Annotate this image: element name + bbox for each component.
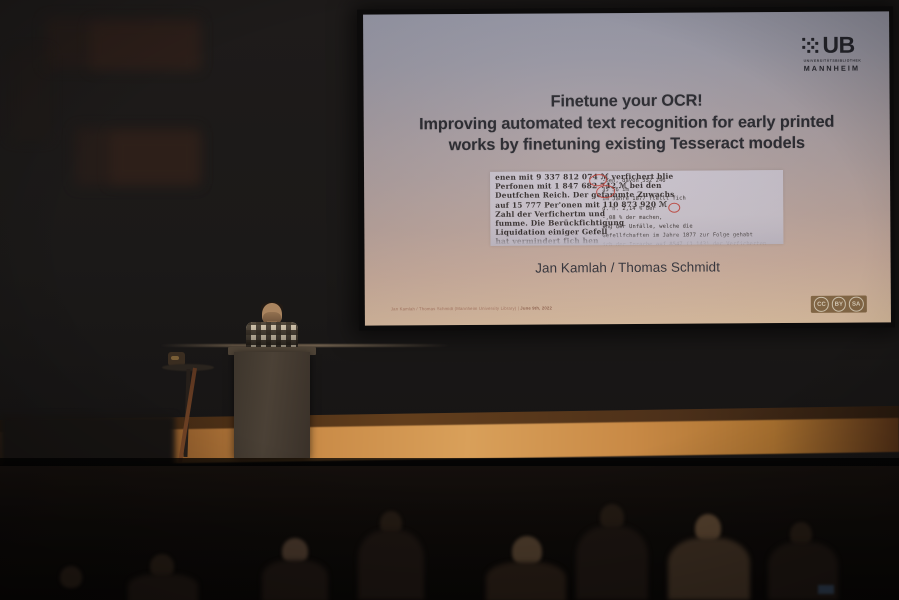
cc-by-icon: BY — [832, 297, 847, 312]
lectern — [234, 352, 310, 458]
table-equipment-highlight — [171, 356, 179, 360]
audience-shoulders — [486, 562, 566, 600]
audience-phone-screen — [818, 585, 834, 594]
fraktur-ocr-sample-figure: enen mit 9 337 812 074 ℳ verfichert blie… — [490, 170, 783, 246]
wall-panel — [90, 22, 200, 70]
ub-mannheim-logo: UB UNIVERSITÄTSBIBLIOTHEK MANNHEIM — [802, 34, 861, 72]
audience-shoulders — [358, 530, 424, 600]
ub-wordmark: UB — [822, 34, 854, 57]
slide-title-line-2: Improving automated text recognition for… — [390, 111, 864, 136]
audience-head — [60, 566, 82, 588]
annotation-circle-icon — [668, 203, 680, 213]
ub-subline-city: MANNHEIM — [804, 64, 862, 72]
ub-dot-matrix-icon — [803, 37, 819, 53]
slide-footer-date: June 9th, 2022 — [520, 305, 552, 310]
cc-sa-icon: SA — [849, 297, 864, 312]
audience-silhouettes — [0, 466, 899, 600]
slide-footer-text: Jan Kamlah / Thomas Schmidt (Mannheim Un… — [391, 306, 520, 312]
audience-shoulders — [668, 538, 750, 600]
slide-authors: Jan Kamlah / Thomas Schmidt — [365, 258, 891, 276]
slide-footer: Jan Kamlah / Thomas Schmidt (Mannheim Un… — [391, 305, 552, 311]
presenter — [246, 303, 298, 353]
conference-photo-scene: UB UNIVERSITÄTSBIBLIOTHEK MANNHEIM Finet… — [0, 0, 899, 600]
audience-shoulders — [262, 560, 328, 600]
slide-title-line-3: works by finetuning existing Tesseract m… — [390, 133, 864, 158]
figure-fade — [490, 232, 783, 246]
projection-screen: UB UNIVERSITÄTSBIBLIOTHEK MANNHEIM Finet… — [363, 11, 891, 325]
cc-icon: CC — [814, 297, 829, 312]
slide-title: Finetune your OCR! Improving automated t… — [390, 90, 864, 158]
cc-by-sa-badge: CC BY SA — [811, 296, 867, 313]
audience-shoulders — [128, 574, 198, 600]
audience-shoulders — [576, 526, 648, 600]
slide-title-line-1: Finetune your OCR! — [390, 90, 864, 115]
wall-panel — [110, 132, 200, 184]
wall-panel — [10, 50, 50, 140]
presentation-slide: UB UNIVERSITÄTSBIBLIOTHEK MANNHEIM Finet… — [363, 11, 891, 325]
